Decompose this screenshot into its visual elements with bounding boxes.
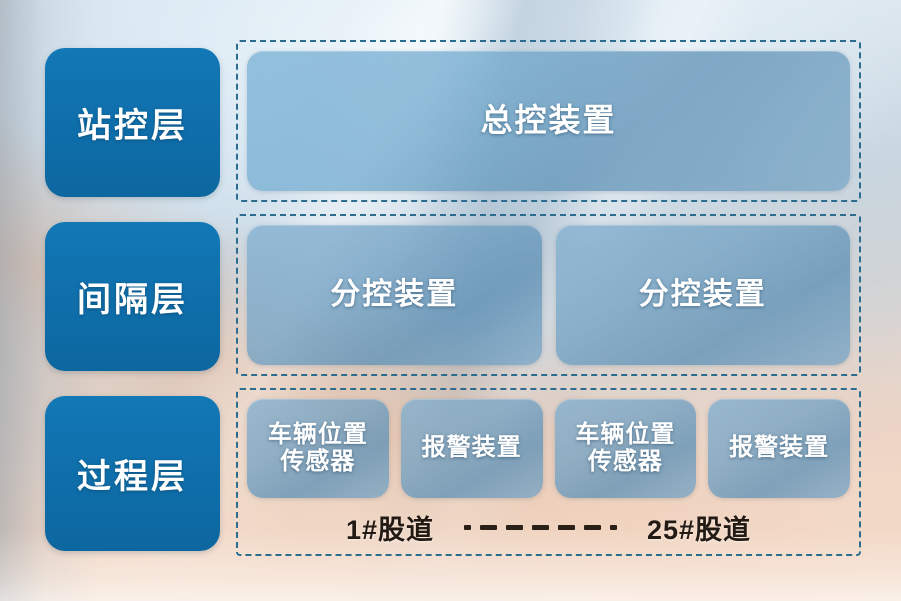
tile-sub-control-2[interactable]: 分控装置 (556, 225, 851, 365)
tile-alarm-device-2-label: 报警装置 (729, 435, 829, 462)
layer-label-process: 过程层 (45, 396, 220, 551)
layer-rows: 站控层 总控装置 间隔层 分控装置 分控装置 (0, 0, 901, 601)
tile-master-control-label: 总控装置 (480, 103, 616, 139)
tile-group-station-control: 总控装置 (247, 51, 850, 191)
track-label-last: 25#股道 (647, 508, 751, 547)
track-ellipsis-dashes (460, 525, 621, 530)
layer-label-station-control: 站控层 (45, 48, 220, 197)
tile-alarm-device-2[interactable]: 报警装置 (708, 399, 850, 498)
tile-sub-control-2-label: 分控装置 (639, 278, 767, 312)
layer-row-process: 过程层 车辆位置 传感器 报警装置 车辆位置 传感器 报警装置 1#股道 (0, 388, 901, 556)
track-caption-row: 1#股道 25#股道 (247, 506, 850, 548)
tile-sub-control-1-label: 分控装置 (330, 278, 458, 312)
layer-label-bay: 间隔层 (45, 222, 220, 371)
tile-vehicle-position-sensor-1-label: 车辆位置 传感器 (268, 422, 368, 476)
architecture-diagram: 站控层 总控装置 间隔层 分控装置 分控装置 (0, 0, 901, 601)
layer-label-text: 过程层 (77, 449, 188, 498)
track-label-first: 1#股道 (346, 508, 434, 547)
tile-vehicle-position-sensor-2-label: 车辆位置 传感器 (575, 422, 675, 476)
tile-master-control[interactable]: 总控装置 (247, 51, 850, 191)
tile-group-bay: 分控装置 分控装置 (247, 225, 850, 365)
tile-sub-control-1[interactable]: 分控装置 (247, 225, 542, 365)
tile-group-process: 车辆位置 传感器 报警装置 车辆位置 传感器 报警装置 (247, 399, 850, 498)
tile-vehicle-position-sensor-1[interactable]: 车辆位置 传感器 (247, 399, 389, 498)
layer-label-text: 间隔层 (77, 272, 188, 321)
tile-alarm-device-1-label: 报警装置 (422, 435, 522, 462)
layer-row-station-control: 站控层 总控装置 (0, 40, 901, 202)
layer-row-bay: 间隔层 分控装置 分控装置 (0, 214, 901, 376)
tile-vehicle-position-sensor-2[interactable]: 车辆位置 传感器 (555, 399, 697, 498)
tile-alarm-device-1[interactable]: 报警装置 (401, 399, 543, 498)
layer-label-text: 站控层 (77, 98, 188, 147)
